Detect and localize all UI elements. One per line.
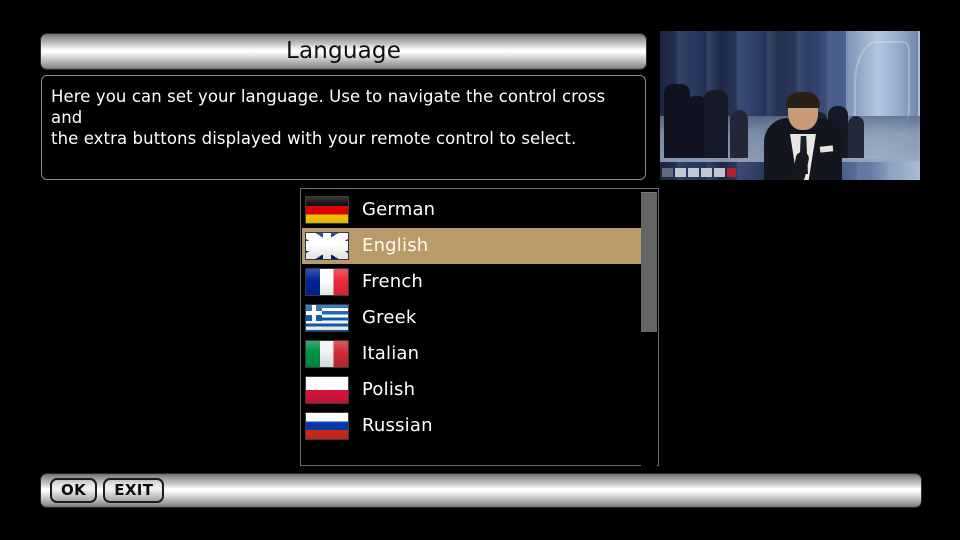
list-item[interactable]: French [302, 264, 642, 300]
preview-crowd-person [704, 90, 728, 158]
list-item-label: English [362, 237, 428, 255]
flag-united-kingdom-icon [305, 232, 349, 260]
flag-poland-icon [305, 376, 349, 404]
list-item-label: Polish [362, 381, 415, 399]
preview-reporter [764, 88, 842, 180]
list-item[interactable]: German [302, 192, 642, 228]
list-item[interactable]: Russian [302, 408, 642, 444]
list-item-label: Greek [362, 309, 417, 327]
language-list-panel[interactable]: German English French Greek Italian [300, 188, 659, 466]
preview-channel-watermark [662, 166, 736, 178]
help-description-box: Here you can set your language. Use to n… [41, 75, 646, 180]
flag-greece-icon [305, 304, 349, 332]
flag-russia-icon [305, 412, 349, 440]
ok-button-label: OK [61, 483, 86, 498]
exit-button-label: EXIT [114, 483, 153, 498]
scrollbar-thumb[interactable] [641, 192, 657, 332]
menu-title-bar: Language [40, 33, 647, 70]
list-item[interactable]: Greek [302, 300, 642, 336]
tv-osd-screen: Language Here you can set your language.… [0, 0, 960, 540]
flag-france-icon [305, 268, 349, 296]
page-title: Language [286, 40, 401, 63]
language-list-scrollbar[interactable] [641, 190, 657, 466]
ok-button[interactable]: OK [50, 478, 97, 503]
exit-button[interactable]: EXIT [103, 478, 164, 503]
list-item-label: French [362, 273, 423, 291]
help-description-text: Here you can set your language. Use to n… [51, 86, 636, 149]
list-item-label: German [362, 201, 435, 219]
flag-germany-icon [305, 196, 349, 224]
preview-crowd-person [848, 116, 864, 158]
list-item[interactable]: Polish [302, 372, 642, 408]
live-tv-preview[interactable] [660, 31, 920, 180]
flag-italy-icon [305, 340, 349, 368]
preview-reporter-hair [786, 92, 820, 108]
list-item-label: Italian [362, 345, 419, 363]
softkey-bar: OK EXIT [40, 473, 922, 508]
list-item-label: Russian [362, 417, 433, 435]
language-list: German English French Greek Italian [302, 192, 642, 444]
list-item[interactable]: Italian [302, 336, 642, 372]
list-item[interactable]: English [302, 228, 643, 264]
preview-crowd-person [730, 110, 748, 158]
